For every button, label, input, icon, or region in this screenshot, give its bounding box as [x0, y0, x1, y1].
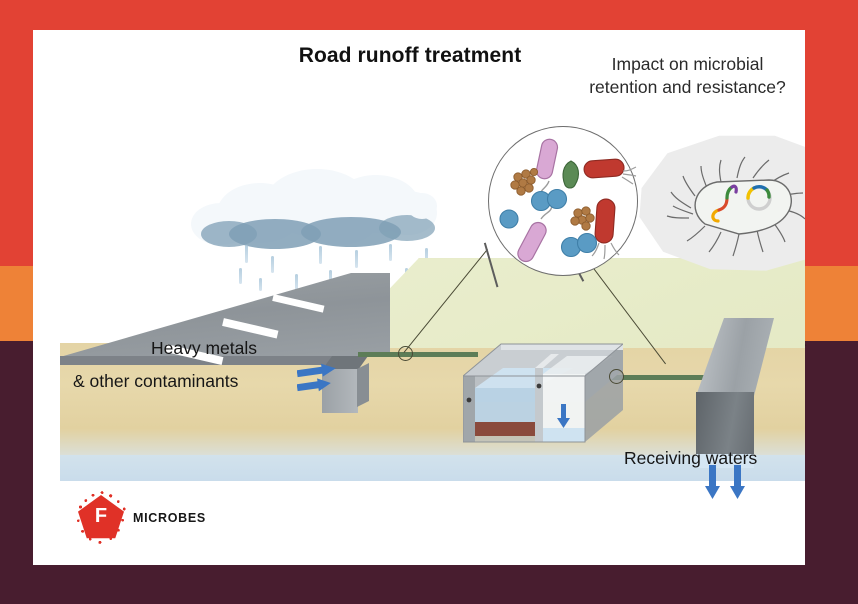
logo-wordmark: MICROBES [133, 511, 206, 525]
logo-letter: F [78, 495, 124, 540]
treatment-tank [463, 330, 623, 458]
blue-diplococcus-upper [532, 190, 567, 211]
graphical-abstract: Road runoff treatment Impact on microbia… [0, 0, 858, 604]
callout-node-outlet [609, 369, 624, 384]
pink-rod-flagellated [535, 138, 559, 198]
inlet-pipe [358, 352, 478, 357]
label-receiving-waters: Receiving waters [624, 448, 757, 469]
illustration-scene [33, 30, 805, 500]
heavy-metals-arrows [297, 363, 343, 393]
brown-cluster-upper [511, 168, 538, 195]
resistant-bacterium [661, 148, 805, 266]
receiving-waters-arrows [701, 465, 757, 500]
blue-diplococcus-lower [562, 234, 597, 257]
red-rod-flagellated-upper [583, 159, 636, 184]
label-heavy-metals: Heavy metals [151, 338, 257, 359]
red-rod-flagellated-lower [592, 198, 619, 259]
brown-cluster-lower [571, 207, 594, 230]
magnified-microbe-community [488, 126, 638, 276]
green-curved-rod [563, 161, 578, 188]
microbe-community-svg [489, 127, 637, 275]
callout-node-inlet [398, 346, 413, 361]
frontiers-pentagon-icon: F [78, 495, 124, 540]
rain-cloud [183, 165, 443, 270]
label-other-contaminants: & other contaminants [73, 371, 238, 392]
road-drain-inlet-side [357, 363, 369, 407]
cell-envelope [695, 180, 791, 234]
frontiers-microbes-logo: F MICROBES [78, 495, 206, 540]
pink-rod [515, 203, 552, 264]
blue-coccus-single [500, 210, 518, 228]
